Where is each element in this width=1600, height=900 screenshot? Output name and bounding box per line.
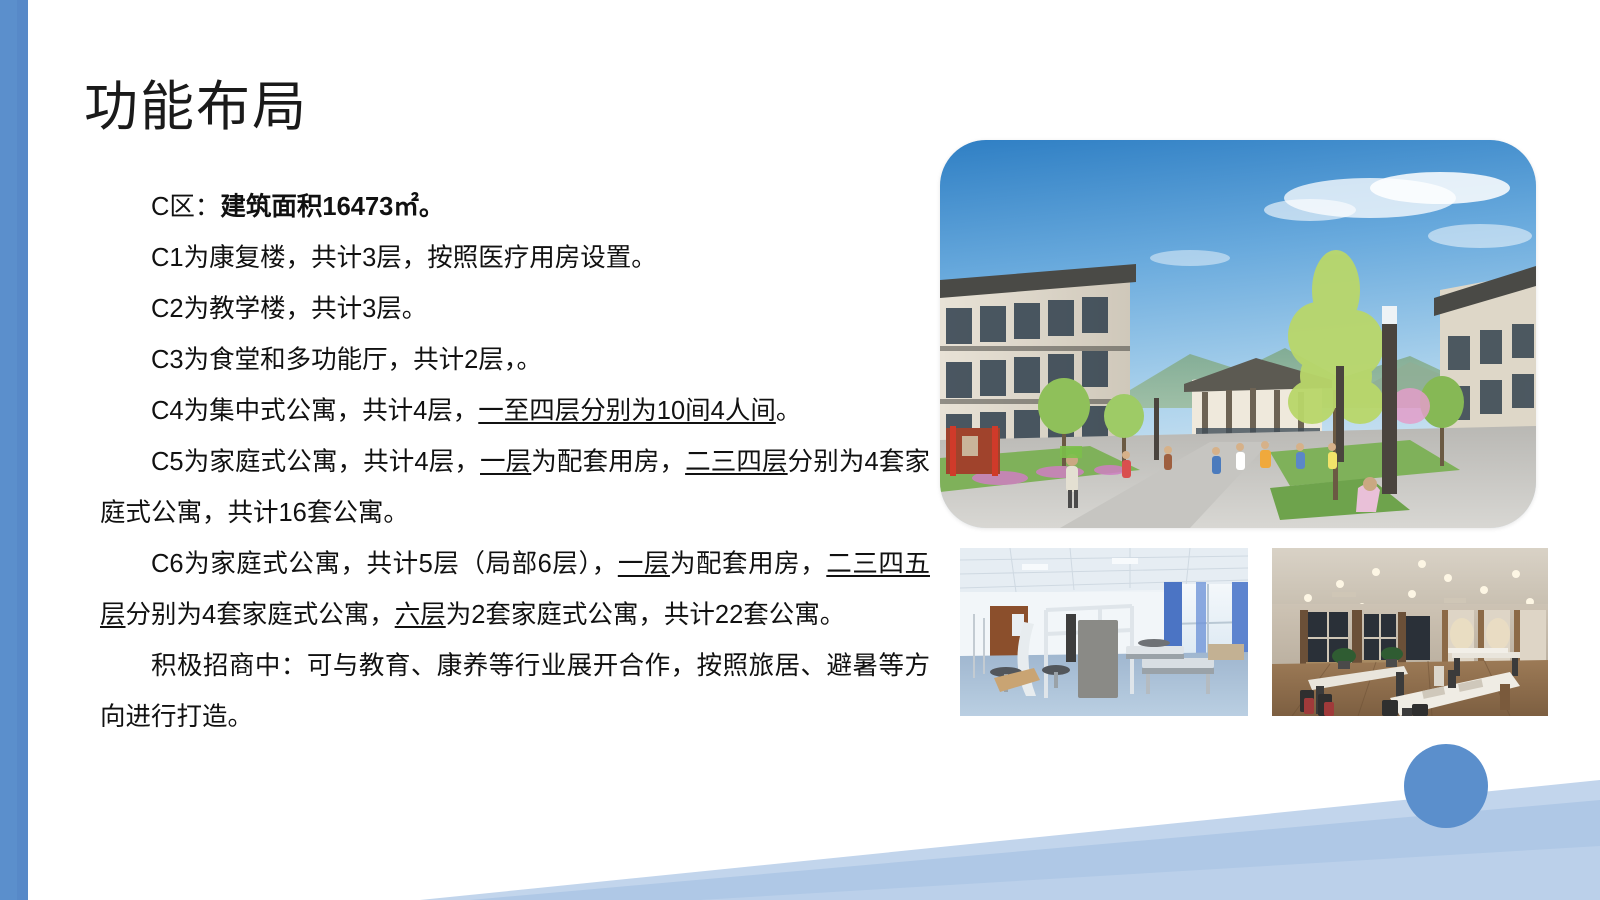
- left-accent-bar-stripe: [17, 0, 28, 900]
- paragraph-c1-rehab-building: C1为康复楼，共计3层，按照医疗用房设置。: [100, 233, 930, 284]
- text-run: 为配套用房，: [531, 448, 685, 476]
- text-run: C区：: [151, 193, 220, 221]
- text-run-underline: 一层: [480, 448, 531, 476]
- text-run: 积极招商中：可与教育、康养等行业展开合作，按照旅居、避暑等方向进行打造。: [100, 652, 930, 731]
- hero-image-artwork: [940, 140, 1536, 528]
- paragraph-c4-central-apartment: C4为集中式公寓，共计4层，一至四层分别为10间4人间。: [100, 386, 930, 437]
- paragraph-c3-canteen-hall: C3为食堂和多功能厅，共计2层，。: [100, 335, 930, 386]
- paragraph-c5-family-apartment: C5为家庭式公寓，共计4层，一层为配套用房，二三四层分别为4套家庭式公寓，共计1…: [100, 437, 930, 539]
- paragraph-zone-c-area: C区：建筑面积16473㎡。: [100, 182, 930, 233]
- text-run-underline: 一层: [618, 550, 670, 578]
- text-run: 为配套用房，: [670, 550, 826, 578]
- text-run: C6为家庭式公寓，共计5层（局部6层），: [151, 550, 618, 578]
- text-run: C2为教学楼，共计3层。: [151, 295, 427, 323]
- left-accent-bar: [0, 0, 28, 900]
- text-run: C4为集中式公寓，共计4层，: [151, 397, 478, 425]
- text-run-underline: 二三四层: [685, 448, 788, 476]
- paragraph-c6-family-apartment: C6为家庭式公寓，共计5层（局部6层），一层为配套用房，二三四五层分别为4套家庭…: [100, 539, 930, 641]
- blue-circle-decoration: [1404, 744, 1488, 828]
- text-run: 为2套家庭式公寓，共计22套公寓。: [446, 601, 846, 629]
- hero-campus-rendering-image: [940, 140, 1536, 528]
- text-run: C5为家庭式公寓，共计4层，: [151, 448, 480, 476]
- text-run: C1为康复楼，共计3层，按照医疗用房设置。: [151, 244, 657, 272]
- paragraph-c2-teaching-building: C2为教学楼，共计3层。: [100, 284, 930, 335]
- text-run-underline: 六层: [395, 601, 446, 629]
- text-run: C3为食堂和多功能厅，共计2层，。: [151, 346, 542, 374]
- multifunction-hall-photo-image: [1272, 548, 1548, 716]
- text-run: 。: [776, 397, 802, 425]
- body-text-block: C区：建筑面积16473㎡。C1为康复楼，共计3层，按照医疗用房设置。C2为教学…: [100, 182, 930, 743]
- hall-image-artwork: [1272, 548, 1548, 716]
- rehab-room-photo-image: [960, 548, 1248, 716]
- rehab-image-artwork: [960, 548, 1248, 716]
- text-run: 分别为4套家庭式公寓，: [126, 601, 395, 629]
- page-title: 功能布局: [84, 78, 308, 137]
- slide: 功能布局 C区：建筑面积16473㎡。C1为康复楼，共计3层，按照医疗用房设置。…: [0, 0, 1600, 900]
- text-run-bold: 建筑面积16473㎡。: [220, 193, 444, 221]
- text-run-underline: 一至四层分别为10间4人间: [478, 397, 776, 425]
- paragraph-investment-invitation: 积极招商中：可与教育、康养等行业展开合作，按照旅居、避暑等方向进行打造。: [100, 641, 930, 743]
